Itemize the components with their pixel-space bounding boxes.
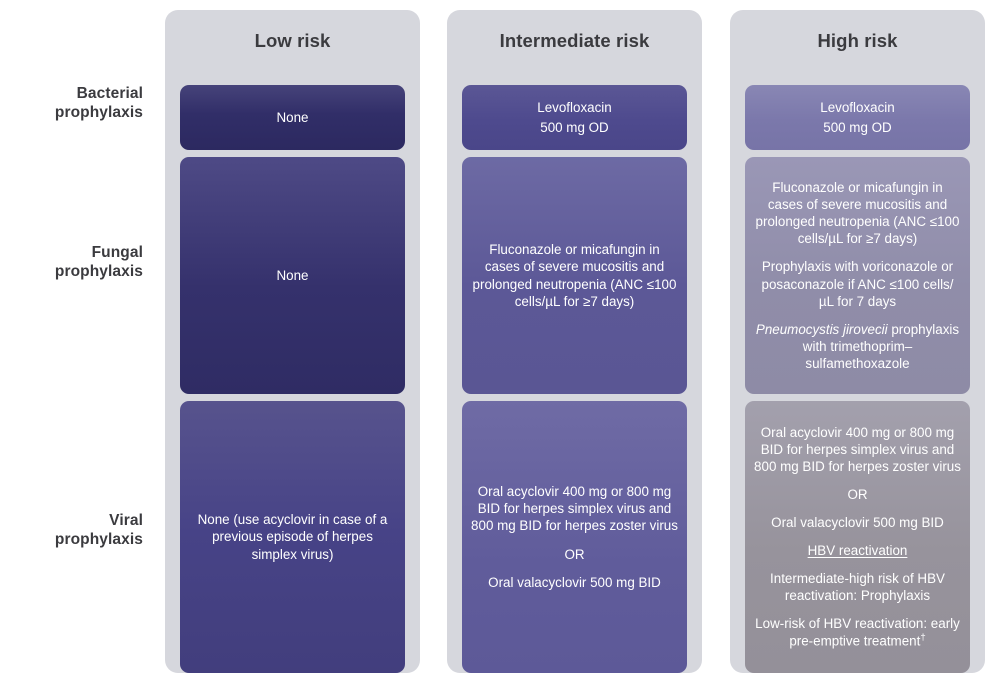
- row-label-bacterial-line1: Bacterial: [0, 84, 143, 103]
- cell-fungal-low-risk: None: [180, 157, 405, 394]
- row-label-viral-prophylaxis: Viral prophylaxis: [0, 511, 143, 550]
- organism-name-italic: Pneumocystis jirovecii: [756, 322, 888, 337]
- cell-text-line2: 500 mg OD: [540, 119, 608, 136]
- column-low-risk: Low risk None None None (use acyclovir i…: [165, 10, 420, 673]
- cell-viral-high-risk: Oral acyclovir 400 mg or 800 mg BID for …: [745, 401, 970, 673]
- row-label-bacterial-line2: prophylaxis: [0, 103, 143, 122]
- column-intermediate-risk: Intermediate risk Levofloxacin 500 mg OD…: [447, 10, 702, 673]
- cell-text-paragraph-3: Pneumocystis jirovecii prophylaxis with …: [754, 321, 961, 372]
- row-label-rail: Bacterial prophylaxis Fungal prophylaxis…: [0, 0, 155, 683]
- cell-text-line1: Levofloxacin: [820, 99, 894, 116]
- row-label-bacterial-prophylaxis: Bacterial prophylaxis: [0, 84, 143, 123]
- cell-fungal-high-risk: Fluconazole or micafungin in cases of se…: [745, 157, 970, 394]
- column-header-intermediate-risk: Intermediate risk: [447, 30, 702, 52]
- column-header-low-risk: Low risk: [165, 30, 420, 52]
- cell-bacterial-low-risk: None: [180, 85, 405, 150]
- cell-bacterial-high-risk: Levofloxacin 500 mg OD: [745, 85, 970, 150]
- column-header-high-risk: High risk: [730, 30, 985, 52]
- row-label-viral-line2: prophylaxis: [0, 530, 143, 549]
- row-label-fungal-prophylaxis: Fungal prophylaxis: [0, 243, 143, 282]
- footnote-dagger-marker: †: [920, 632, 925, 643]
- cell-text-or-separator: OR: [564, 546, 584, 563]
- cell-viral-low-risk: None (use acyclovir in case of a previou…: [180, 401, 405, 673]
- cell-bacterial-intermediate-risk: Levofloxacin 500 mg OD: [462, 85, 687, 150]
- cell-text-or-separator: OR: [847, 486, 867, 503]
- cell-text: None (use acyclovir in case of a previou…: [189, 511, 396, 562]
- prophylaxis-risk-table: Bacterial prophylaxis Fungal prophylaxis…: [0, 0, 1000, 683]
- cell-text: None: [276, 109, 308, 126]
- cell-text-paragraph-3: Oral valacyclovir 500 mg BID: [771, 514, 944, 531]
- cell-viral-intermediate-risk: Oral acyclovir 400 mg or 800 mg BID for …: [462, 401, 687, 673]
- row-label-fungal-line2: prophylaxis: [0, 262, 143, 281]
- hbv-reactivation-heading-text: HBV reactivation: [808, 543, 908, 558]
- cell-text-paragraph-1: Fluconazole or micafungin in cases of se…: [754, 179, 961, 247]
- cell-text-paragraph-6: Low-risk of HBV reactivation: early pre-…: [754, 615, 961, 650]
- row-label-fungal-line1: Fungal: [0, 243, 143, 262]
- hbv-reactivation-heading: HBV reactivation: [808, 542, 908, 559]
- cell-text-paragraph-3: Oral valacyclovir 500 mg BID: [488, 574, 661, 591]
- cell-fungal-intermediate-risk: Fluconazole or micafungin in cases of se…: [462, 157, 687, 394]
- cell-text-paragraph-6-text: Low-risk of HBV reactivation: early pre-…: [755, 616, 960, 648]
- cell-text-paragraph-1: Fluconazole or micafungin in cases of se…: [471, 241, 678, 309]
- cell-text-paragraph-1: Oral acyclovir 400 mg or 800 mg BID for …: [471, 483, 678, 534]
- cell-text-paragraph-5: Intermediate-high risk of HBV reactivati…: [754, 570, 961, 604]
- cell-text: None: [276, 267, 308, 284]
- row-label-viral-line1: Viral: [0, 511, 143, 530]
- cell-text-line2: 500 mg OD: [823, 119, 891, 136]
- cell-text-paragraph-2: Prophylaxis with voriconazole or posacon…: [754, 258, 961, 309]
- column-high-risk: High risk Levofloxacin 500 mg OD Flucona…: [730, 10, 985, 673]
- cell-text-paragraph-1: Oral acyclovir 400 mg or 800 mg BID for …: [754, 424, 961, 475]
- cell-text-line1: Levofloxacin: [537, 99, 611, 116]
